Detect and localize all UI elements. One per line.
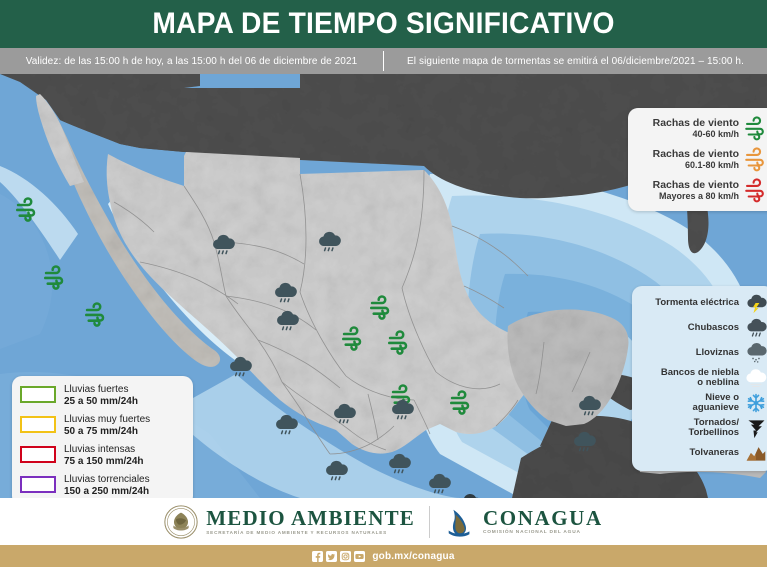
phenomena-label: Bancos de niebla o neblina	[661, 368, 739, 389]
wind-label: Rachas de viento	[653, 179, 739, 191]
wind-legend-row: Rachas de viento Mayores a 80 km/h	[636, 177, 767, 203]
rain-label: Lluvias muy fuertes	[64, 414, 150, 426]
footer-social-bar: gob.mx/conagua	[0, 545, 767, 567]
agency-subtitle: COMISIÓN NACIONAL DEL AGUA	[483, 529, 603, 536]
validity-text: Validez: de las 15:00 h de hoy, a las 15…	[0, 48, 383, 74]
phenomena-label: Tormenta eléctrica	[655, 298, 739, 309]
rain-label: Lluvias fuertes	[64, 384, 138, 396]
phenomena-label: Lloviznas	[696, 348, 739, 359]
wind-range: Mayores a 80 km/h	[653, 191, 739, 202]
phenomena-label: Chubascos	[688, 323, 739, 334]
phenomena-legend-panel: Tormenta eléctrica Chubascos Lloviznas	[632, 286, 767, 471]
phenomena-legend-row: Tornados/ Torbellinos	[638, 417, 767, 439]
rain-amount: 50 a 75 mm/24h	[64, 426, 150, 438]
wind-range: 40-60 km/h	[653, 129, 739, 140]
ministry-title: MEDIO AMBIENTE	[206, 507, 415, 529]
footer-brand-bar: MEDIO AMBIENTE SECRETARÍA DE MEDIO AMBIE…	[0, 498, 767, 545]
agency-title: CONAGUA	[483, 507, 603, 529]
phenomena-legend-row: Chubascos	[638, 317, 767, 339]
rain-legend-row: Lluvias intensas 75 a 150 mm/24h	[20, 444, 185, 468]
snow-icon	[744, 392, 767, 414]
wind-gust-icon	[743, 115, 767, 141]
phenomena-label: Nieve o aguanieve	[693, 393, 739, 414]
twitter-icon[interactable]	[326, 551, 337, 562]
phenomena-legend-row: Tormenta eléctrica	[638, 292, 767, 314]
fog-icon	[744, 367, 767, 389]
phenomena-legend-row: Bancos de niebla o neblina	[638, 367, 767, 389]
agency-text: CONAGUA COMISIÓN NACIONAL DEL AGUA	[483, 507, 603, 536]
ministry-subtitle: SECRETARÍA DE MEDIO AMBIENTE Y RECURSOS …	[206, 529, 415, 536]
phenomena-label: Tornados/ Torbellinos	[689, 418, 740, 439]
page-header: MAPA DE TIEMPO SIGNIFICATIVO	[0, 0, 767, 48]
instagram-icon[interactable]	[340, 551, 351, 562]
rain-amount: 75 a 150 mm/24h	[64, 456, 144, 468]
next-issue-text: El siguiente mapa de tormentas se emitir…	[384, 48, 767, 74]
drizzle-icon	[744, 342, 767, 364]
rain-color-swatch	[20, 446, 56, 463]
wind-range: 60.1-80 km/h	[653, 160, 739, 171]
rain-amount: 150 a 250 mm/24h	[64, 486, 150, 498]
brand-lockup: MEDIO AMBIENTE SECRETARÍA DE MEDIO AMBIE…	[164, 505, 602, 539]
wind-label: Rachas de viento	[653, 117, 739, 129]
mexico-government-seal-icon	[164, 505, 198, 539]
showers-icon	[744, 317, 767, 339]
rain-legend-row: Lluvias torrenciales 150 a 250 mm/24h	[20, 474, 185, 498]
ministry-text: MEDIO AMBIENTE SECRETARÍA DE MEDIO AMBIE…	[206, 507, 415, 536]
rain-color-swatch	[20, 476, 56, 493]
dust-storm-icon	[744, 442, 767, 464]
thunderstorm-icon	[744, 292, 767, 314]
social-links: gob.mx/conagua	[312, 551, 454, 562]
rain-legend-row: Lluvias muy fuertes 50 a 75 mm/24h	[20, 414, 185, 438]
wind-legend-row: Rachas de viento 60.1-80 km/h	[636, 146, 767, 172]
rain-label: Lluvias intensas	[64, 444, 144, 456]
wind-legend-panel: Rachas de viento 40-60 km/h Rachas de vi…	[628, 108, 767, 211]
social-url-label[interactable]: gob.mx/conagua	[372, 551, 454, 562]
conagua-logo-icon	[444, 506, 476, 538]
rain-legend-row: Lluvias fuertes 25 a 50 mm/24h	[20, 384, 185, 408]
phenomena-label: Tolvaneras	[690, 448, 739, 459]
wind-gust-icon	[743, 146, 767, 172]
weather-map-page: MAPA DE TIEMPO SIGNIFICATIVO Validez: de…	[0, 0, 767, 567]
wind-legend-row: Rachas de viento 40-60 km/h	[636, 115, 767, 141]
rain-color-swatch	[20, 386, 56, 403]
brand-divider	[429, 506, 430, 538]
tornado-icon	[744, 417, 767, 439]
wind-gust-icon	[743, 177, 767, 203]
rain-color-swatch	[20, 416, 56, 433]
youtube-icon[interactable]	[354, 551, 365, 562]
rain-label: Lluvias torrenciales	[64, 474, 150, 486]
rain-amount: 25 a 50 mm/24h	[64, 396, 138, 408]
phenomena-legend-row: Lloviznas	[638, 342, 767, 364]
phenomena-legend-row: Tolvaneras	[638, 442, 767, 464]
facebook-icon[interactable]	[312, 551, 323, 562]
page-title: MAPA DE TIEMPO SIGNIFICATIVO	[23, 0, 744, 48]
validity-bar: Validez: de las 15:00 h de hoy, a las 15…	[0, 48, 767, 74]
phenomena-legend-row: Nieve o aguanieve	[638, 392, 767, 414]
rain-legend-panel: Lluvias fuertes 25 a 50 mm/24h Lluvias m…	[12, 376, 193, 506]
wind-label: Rachas de viento	[653, 148, 739, 160]
